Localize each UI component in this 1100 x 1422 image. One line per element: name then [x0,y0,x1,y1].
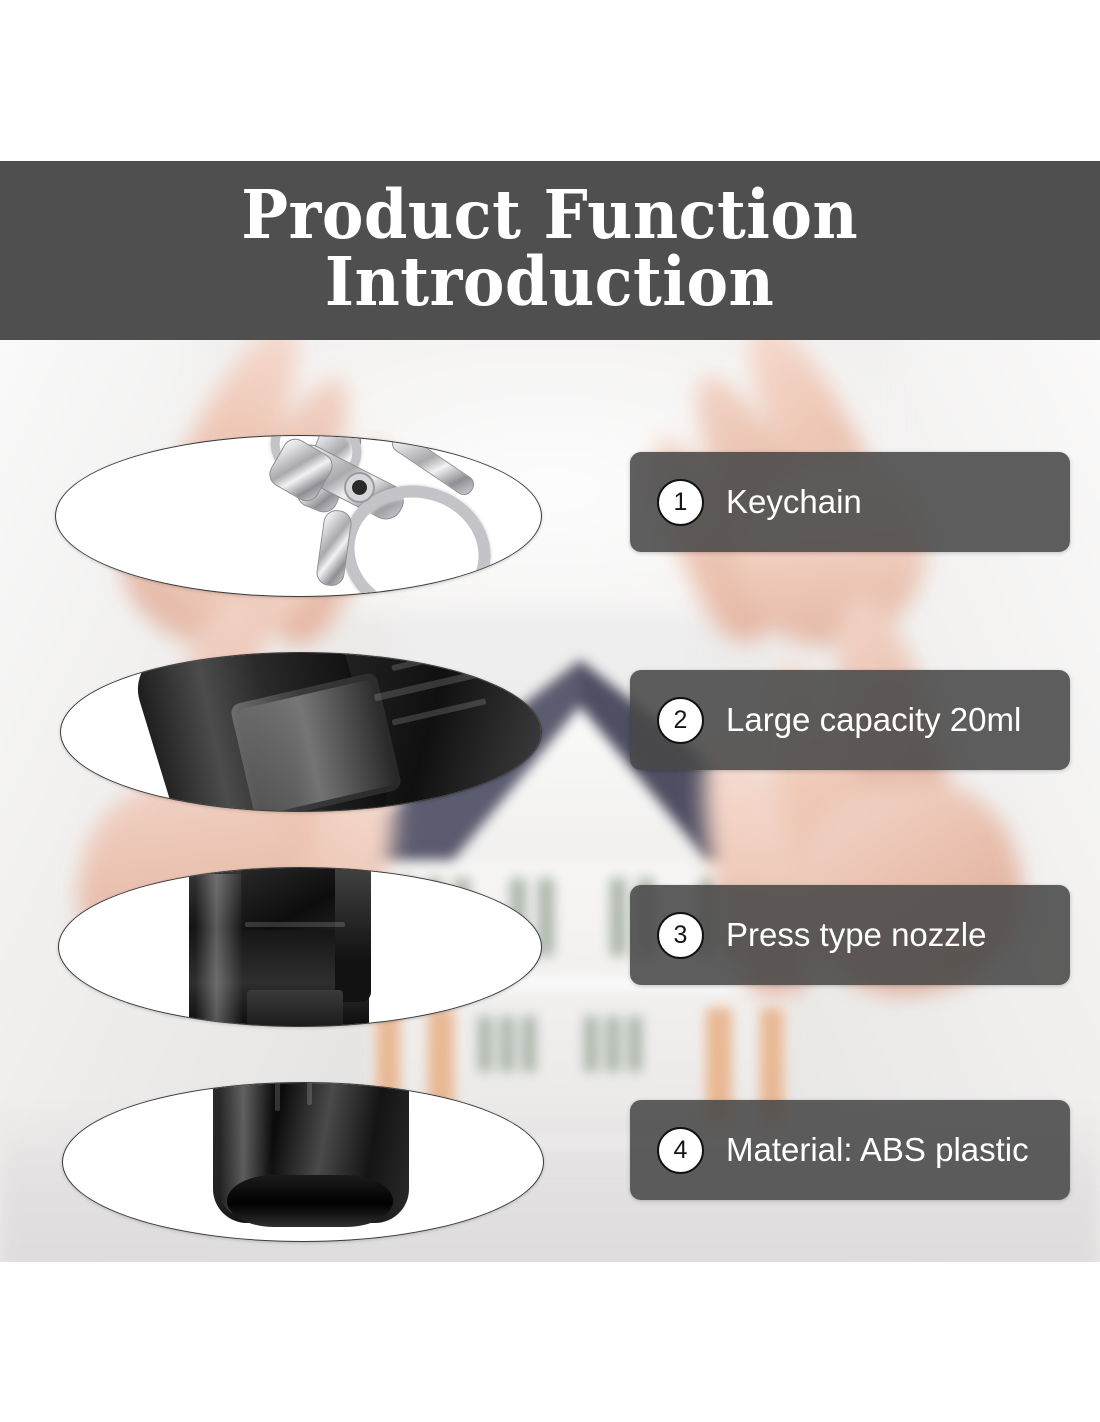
callout-badge-2: 2 [657,697,704,744]
infographic-canvas: Product Function Introduction [0,0,1100,1422]
callout-image-1 [55,435,542,597]
callout-label-text-3: Press type nozzle [726,916,986,954]
callout-image-2 [60,652,542,812]
press-nozzle-photo [59,868,541,1026]
callout-badge-3: 3 [657,912,704,959]
callout-badge-1: 1 [657,479,704,526]
house-window [606,1016,620,1072]
keychain-clasp-photo [56,436,541,596]
page-title-line-2: Introduction [325,249,774,315]
callout-label-text-1: Keychain [726,483,862,521]
house-window [628,1016,642,1072]
header-banner: Product Function Introduction [0,161,1100,340]
page-title-line-1: Product Function [242,182,859,248]
footer-whitespace [0,1262,1100,1422]
callout-label-3[interactable]: 3 Press type nozzle [630,885,1070,985]
callout-image-3 [58,867,542,1027]
callout-badge-4: 4 [657,1127,704,1174]
callout-label-text-4: Material: ABS plastic [726,1131,1029,1169]
house-window [610,878,626,956]
house-window [584,1016,598,1072]
callout-label-1[interactable]: 1 Keychain [630,452,1070,552]
callout-label-4[interactable]: 4 Material: ABS plastic [630,1100,1070,1200]
bottle-body-photo [61,653,541,811]
abs-plastic-base-photo [63,1083,543,1241]
callout-label-2[interactable]: 2 Large capacity 20ml [630,670,1070,770]
background-photo: 1 Keychain 2 Large capacity 20ml 3 Press… [0,340,1100,1262]
callout-image-4 [62,1082,544,1242]
callout-label-text-2: Large capacity 20ml [726,701,1021,739]
